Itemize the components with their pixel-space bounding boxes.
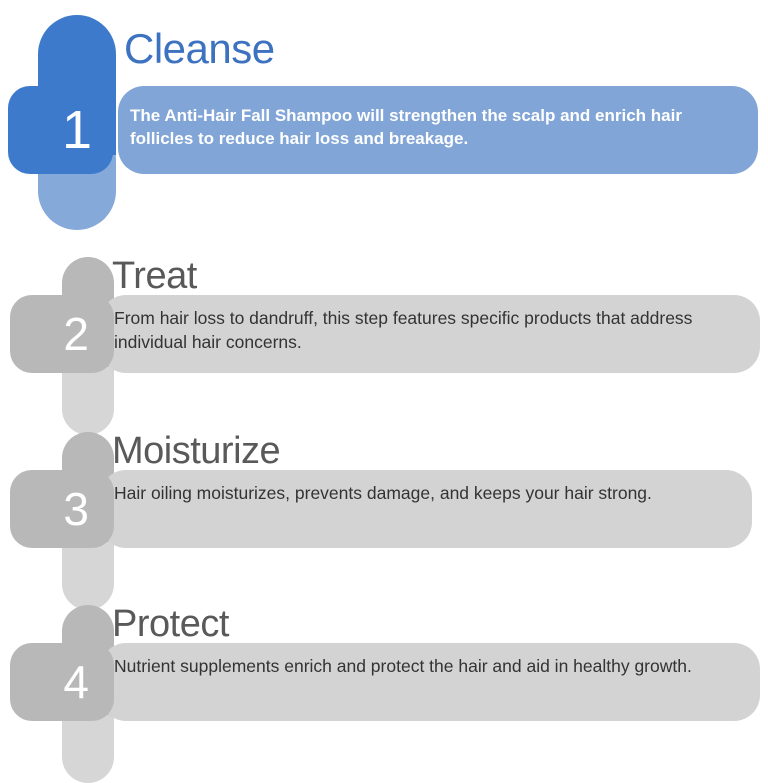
step-item: 4 Protect Nutrient supplements enrich an… [0, 593, 768, 768]
step-heading: Treat [112, 257, 197, 295]
step-number-badge: 4 [10, 643, 114, 721]
step-heading: Protect [112, 605, 229, 643]
step-body-text: Hair oiling moisturizes, prevents damage… [114, 482, 720, 506]
step-number-badge: 1 [8, 86, 113, 174]
step-number: 4 [63, 659, 114, 705]
step-body-text: From hair loss to dandruff, this step fe… [114, 307, 720, 355]
step-number-badge: 3 [10, 470, 114, 548]
step-item: 1 Cleanse The Anti-Hair Fall Shampoo wil… [0, 0, 768, 240]
step-body-text: Nutrient supplements enrich and protect … [114, 655, 720, 679]
infographic-root: 1 Cleanse The Anti-Hair Fall Shampoo wil… [0, 0, 768, 768]
step-item: 3 Moisturize Hair oiling moisturizes, pr… [0, 420, 768, 595]
step-number: 2 [63, 311, 114, 357]
step-heading: Cleanse [124, 28, 275, 70]
step-item: 2 Treat From hair loss to dandruff, this… [0, 245, 768, 420]
step-number: 1 [62, 103, 113, 157]
step-body-text: The Anti-Hair Fall Shampoo will strength… [130, 104, 730, 150]
step-number-badge: 2 [10, 295, 114, 373]
step-number: 3 [63, 486, 114, 532]
step-heading: Moisturize [112, 432, 280, 470]
